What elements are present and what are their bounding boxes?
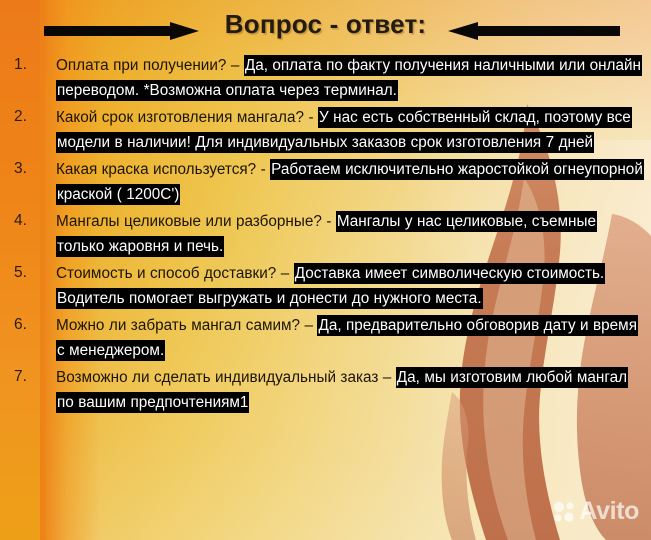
qa-item-5: 5. Стоимость и способ доставки? – Достав… bbox=[0, 262, 651, 311]
qa-item-6: 6. Можно ли забрать мангал самим? – Да, … bbox=[0, 314, 651, 363]
poster-root: Вопрос - ответ: 1. Оплата при получении?… bbox=[0, 0, 651, 540]
qa-item-4: 4. Мангалы целиковые или разборные? - Ма… bbox=[0, 210, 651, 259]
header: Вопрос - ответ: bbox=[0, 0, 651, 52]
qa-number: 7. bbox=[14, 368, 44, 386]
qa-question: Оплата при получении? – bbox=[56, 57, 244, 74]
qa-body: Какой срок изготовления мангала? - У нас… bbox=[56, 106, 643, 155]
qa-body: Какая краска используется? - Работаем ис… bbox=[56, 158, 643, 207]
qa-body: Мангалы целиковые или разборные? - Манга… bbox=[56, 210, 643, 259]
qa-body: Возможно ли сделать индивидуальный заказ… bbox=[56, 366, 643, 415]
qa-number: 1. bbox=[14, 56, 44, 74]
avito-watermark-text: Avito bbox=[579, 497, 639, 526]
qa-item-2: 2. Какой срок изготовления мангала? - У … bbox=[0, 106, 651, 155]
qa-item-3: 3. Какая краска используется? - Работаем… bbox=[0, 158, 651, 207]
qa-number: 4. bbox=[14, 212, 44, 230]
qa-question: Какая краска используется? - bbox=[56, 161, 270, 178]
qa-question: Можно ли забрать мангал самим? – bbox=[56, 317, 317, 334]
qa-question: Какой срок изготовления мангала? - bbox=[56, 109, 318, 126]
qa-number: 5. bbox=[14, 264, 44, 282]
qa-question: Мангалы целиковые или разборные? - bbox=[56, 213, 336, 230]
qa-number: 6. bbox=[14, 316, 44, 334]
avito-watermark: Avito bbox=[552, 497, 639, 526]
qa-number: 3. bbox=[14, 160, 44, 178]
qa-question: Возможно ли сделать индивидуальный заказ… bbox=[56, 369, 396, 386]
qa-number: 2. bbox=[14, 108, 44, 126]
page-title: Вопрос - ответ: bbox=[0, 9, 651, 40]
qa-question: Стоимость и способ доставки? – bbox=[56, 265, 294, 282]
qa-body: Оплата при получении? – Да, оплата по фа… bbox=[56, 54, 643, 103]
qa-body: Стоимость и способ доставки? – Доставка … bbox=[56, 262, 643, 311]
qa-item-1: 1. Оплата при получении? – Да, оплата по… bbox=[0, 54, 651, 103]
qa-body: Можно ли забрать мангал самим? – Да, пре… bbox=[56, 314, 643, 363]
qa-item-7: 7. Возможно ли сделать индивидуальный за… bbox=[0, 366, 651, 415]
qa-list: 1. Оплата при получении? – Да, оплата по… bbox=[0, 54, 651, 418]
avito-logo-icon bbox=[552, 500, 576, 524]
